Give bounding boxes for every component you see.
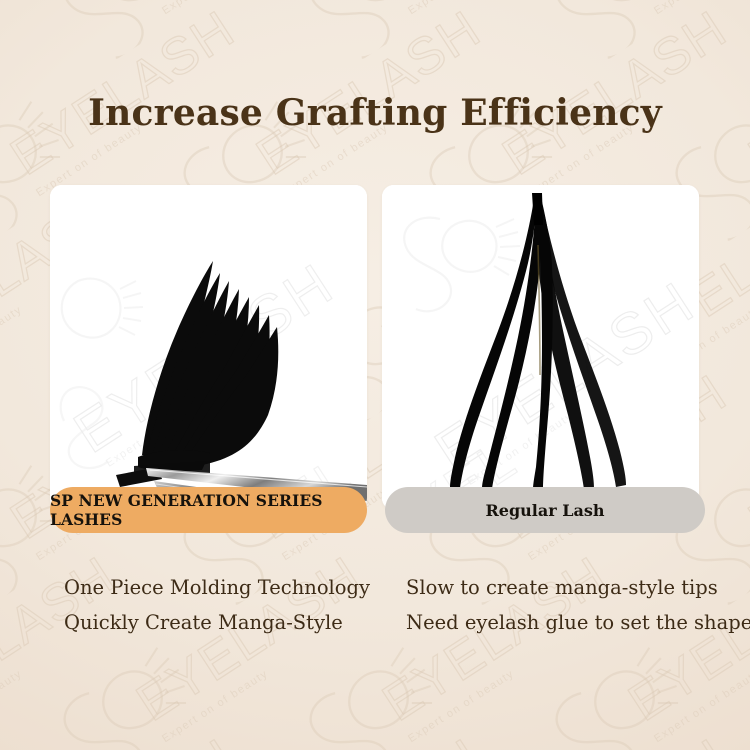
sp-lash-logo-icon xyxy=(529,626,715,750)
watermark-text: EYELASHExpert on of beauty xyxy=(738,727,750,750)
separate-lash-strands-illustration: EYELASH Expert on of beauty EYEL xyxy=(382,185,699,510)
feature-item: One Piece Molding Technology xyxy=(64,570,370,605)
product-photo-regular-lash: EYELASH Expert on of beauty EYEL xyxy=(382,185,699,510)
product-card-new-generation: EYELASH Expert on of beauty EYEL xyxy=(50,185,367,510)
feature-item: Quickly Create Manga-Style xyxy=(64,605,370,640)
watermark-text: EYELASHExpert on of beauty xyxy=(618,0,750,17)
watermark-text: EYELASHExpert on of beauty xyxy=(246,727,499,750)
sp-lash-logo-icon xyxy=(37,626,223,750)
promo-banner: EYELASHExpert on of beauty EYELASHExpert… xyxy=(0,0,750,750)
page-title: Increase Grafting Efficiency xyxy=(0,92,750,134)
lash-fan-with-tweezers-illustration: EYELASH Expert on of beauty EYEL xyxy=(50,185,367,510)
product-photo-new-generation: EYELASH Expert on of beauty EYEL xyxy=(50,185,367,510)
sp-lash-logo-icon xyxy=(529,0,715,72)
sp-lash-logo-icon xyxy=(37,0,223,72)
watermark-text: EYELASHExpert on of beauty xyxy=(492,727,745,750)
sp-lash-logo-icon xyxy=(283,0,469,72)
badge-new-generation[interactable]: SP NEW GENERATION SERIES LASHES xyxy=(50,487,367,533)
product-card-regular-lash: EYELASH Expert on of beauty EYEL xyxy=(382,185,699,510)
badge-regular-lash[interactable]: Regular Lash xyxy=(385,487,705,533)
watermark-text: EYELASHExpert on of beauty xyxy=(738,363,750,563)
feature-list-new-generation: One Piece Molding Technology Quickly Cre… xyxy=(64,570,370,640)
watermark-text: EYELASHExpert on of beauty xyxy=(0,727,253,750)
watermark-text: EYELASHExpert on of beauty xyxy=(372,0,625,17)
sp-lash-logo-icon xyxy=(283,626,469,750)
watermark-text: EYELASHExpert on of beauty xyxy=(126,0,379,17)
feature-item: Need eyelash glue to set the shape xyxy=(406,605,750,640)
feature-list-regular-lash: Slow to create manga-style tips Need eye… xyxy=(406,570,750,640)
watermark-text: EYELASHExpert on of beauty xyxy=(0,0,134,17)
feature-item: Slow to create manga-style tips xyxy=(406,570,750,605)
